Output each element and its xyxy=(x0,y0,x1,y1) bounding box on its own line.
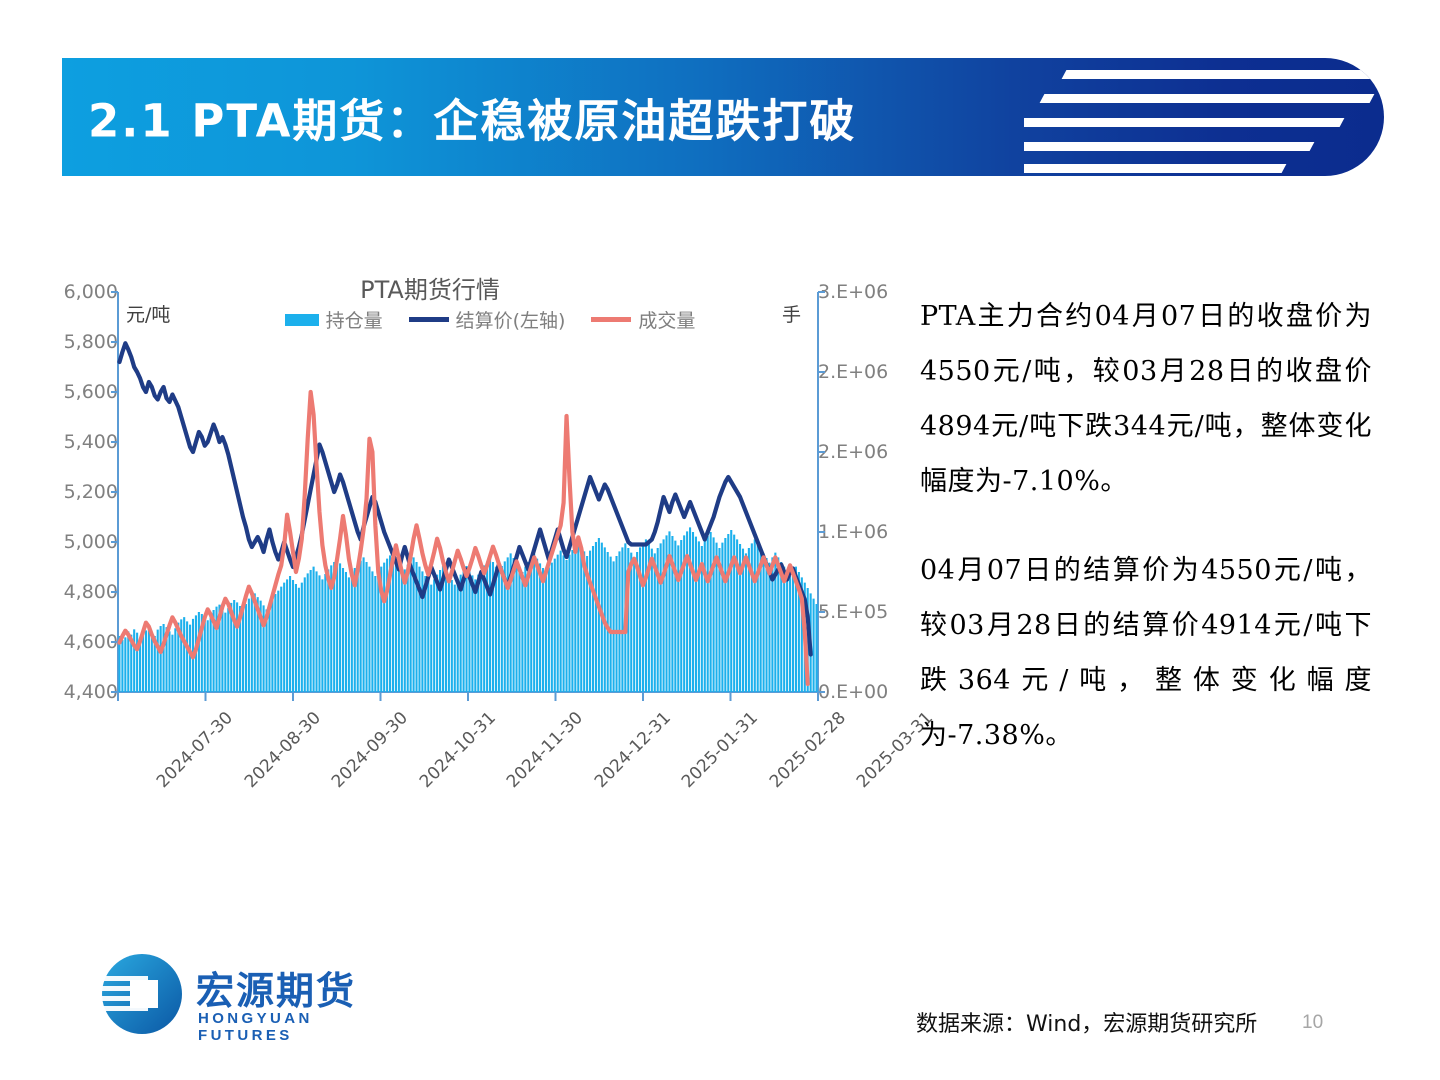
banner-stripe xyxy=(1062,70,1384,79)
logo-mark-icon xyxy=(100,952,184,1036)
banner-stripe xyxy=(1024,118,1344,127)
commentary-paragraph-2: 04月07日的结算价为4550元/吨，较03月28日的结算价4914元/吨下跌3… xyxy=(920,543,1372,763)
header-banner: 2.1 PTA期货：企稳被原油超跌打破 xyxy=(62,58,1384,176)
page-number: 10 xyxy=(1302,1012,1323,1034)
banner-stripe xyxy=(1024,164,1286,173)
chart-plot-area xyxy=(30,262,910,792)
logo-chinese-name: 宏源期货 xyxy=(196,960,356,1015)
company-logo: 宏源期货 HONGYUAN FUTURES xyxy=(100,948,400,1040)
page-title: 2.1 PTA期货：企稳被原油超跌打破 xyxy=(88,85,856,150)
banner-stripe xyxy=(1024,142,1314,151)
data-source-note: 数据来源：Wind，宏源期货研究所 xyxy=(916,1006,1257,1038)
banner-stripe xyxy=(1040,94,1375,103)
banner-stripes xyxy=(1024,58,1384,176)
chart-panel: PTA期货行情 持仓量 结算价(左轴) 成交量 元/吨 手 4,4004,600… xyxy=(30,262,910,792)
commentary-panel: PTA主力合约04月07日的收盘价为4550元/吨，较03月28日的收盘价489… xyxy=(920,262,1372,790)
commentary-paragraph-1: PTA主力合约04月07日的收盘价为4550元/吨，较03月28日的收盘价489… xyxy=(920,289,1372,509)
logo-english-name: HONGYUAN FUTURES xyxy=(198,1010,400,1044)
